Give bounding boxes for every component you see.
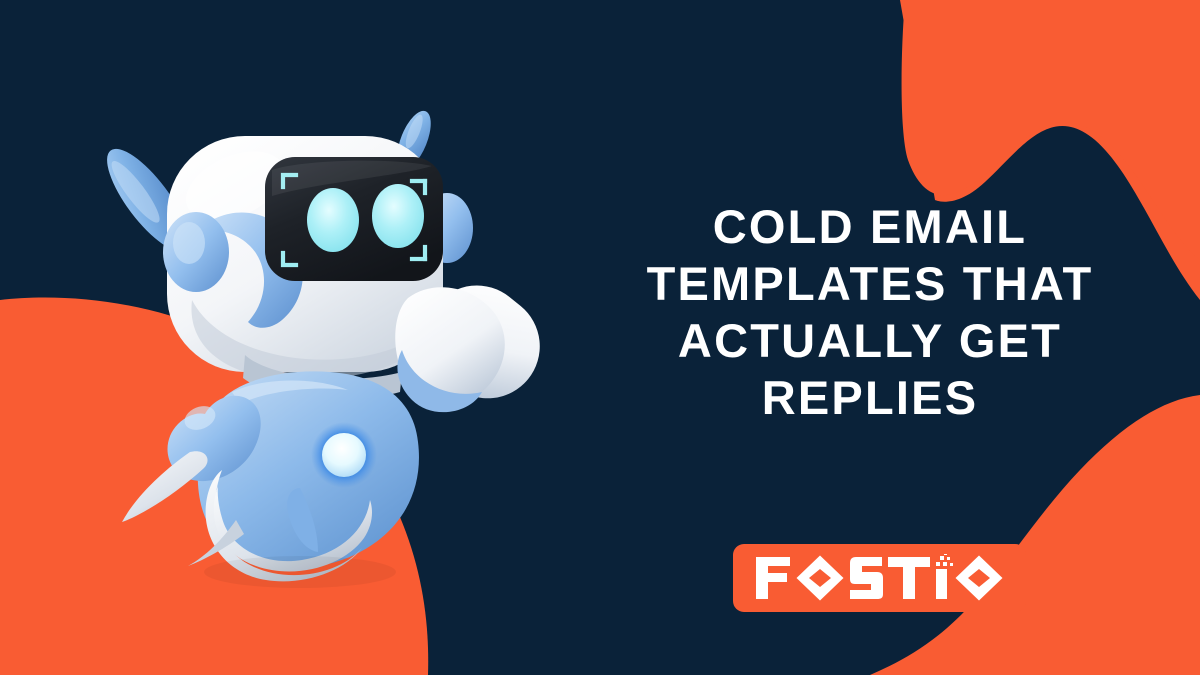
- logo-letter-o-2: [955, 556, 1002, 601]
- marketing-banner: COLD EMAIL TEMPLATES THAT ACTUALLY GET R…: [0, 0, 1200, 675]
- robot-eye-right: [372, 184, 424, 248]
- logo-letter-s: [850, 557, 883, 599]
- page-title: COLD EMAIL TEMPLATES THAT ACTUALLY GET R…: [620, 199, 1120, 426]
- logo-letter-i: [936, 569, 947, 599]
- robot-eye-left: [307, 188, 359, 252]
- logo-letter-o-1: [796, 556, 843, 601]
- robot-face-screen: [265, 157, 443, 281]
- robot-chest-light: [311, 422, 377, 488]
- logo-letter-t: [888, 557, 930, 599]
- fostio-logo: [754, 554, 1006, 602]
- logo-i-pixel-dots: [936, 554, 953, 566]
- fostio-logo-badge[interactable]: FOSTIO: [733, 544, 1026, 612]
